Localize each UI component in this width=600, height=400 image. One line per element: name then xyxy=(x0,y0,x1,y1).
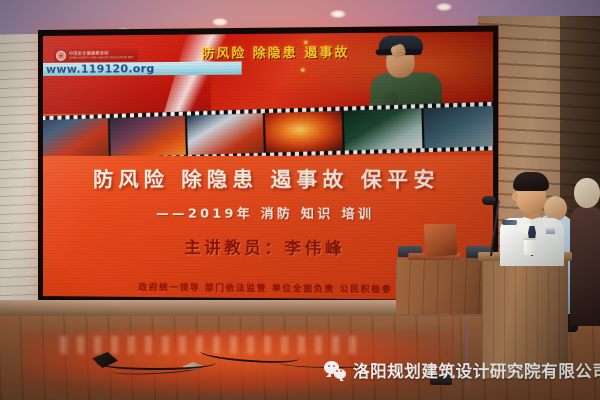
seated-attendee xyxy=(570,206,600,326)
downlight-icon xyxy=(330,10,346,18)
education-net-logo: 中国安全健康教育网 CHINA SAFETY AND HEALTH EDUCAT… xyxy=(54,48,138,62)
film-frame xyxy=(187,113,264,155)
wechat-icon xyxy=(324,361,346,379)
url-text: www.119120.org xyxy=(43,62,155,76)
logo-text-group: 中国安全健康教育网 CHINA SAFETY AND HEALTH EDUCAT… xyxy=(69,51,134,59)
circular-emblem-icon xyxy=(56,51,66,61)
laptop-screen xyxy=(424,224,457,257)
screenshot-root: ★ ★ ★ ★ 中国安全健康教育网 CHINA xyxy=(0,0,600,400)
downlight-icon xyxy=(212,18,228,26)
flag-star-icon: ★ xyxy=(300,67,307,74)
attendee-head xyxy=(574,178,600,208)
watermark: 洛阳规划建筑设计研究院有限公司 xyxy=(324,358,600,382)
slide-headline: 防风险 除隐患 遏事故 保平安 xyxy=(43,162,493,192)
watermark-text: 洛阳规划建筑设计研究院有限公司 xyxy=(353,358,600,382)
paper-cup xyxy=(524,238,536,255)
logo-subtext: CHINA SAFETY AND HEALTH EDUCATION NET xyxy=(69,56,134,60)
slide-subline: ——2019年 消防 知识 培训 xyxy=(43,202,493,223)
saluting-officer-icon xyxy=(369,32,447,114)
screen-banner: ★ ★ ★ ★ 中国安全健康教育网 CHINA xyxy=(43,32,493,114)
film-frame xyxy=(265,111,343,153)
banner-headline: 防风险 除隐患 遏事故 xyxy=(202,41,350,62)
film-frame xyxy=(110,116,186,157)
film-frame xyxy=(344,108,423,150)
url-bar: www.119120.org xyxy=(43,61,242,76)
downlight-icon xyxy=(436,3,452,11)
microphone-icon xyxy=(482,196,496,205)
film-frame xyxy=(43,118,109,159)
film-frame xyxy=(423,106,493,148)
